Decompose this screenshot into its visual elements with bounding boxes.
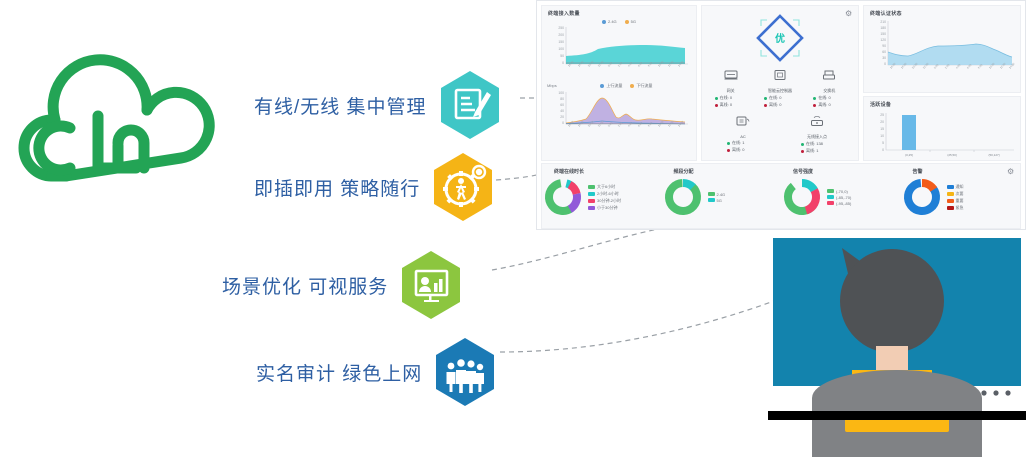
legend-label: 2小时-6小时 [597, 191, 619, 197]
svg-text:20: 20 [880, 120, 884, 124]
legend-label: 大于6小时 [597, 184, 615, 190]
health-score: 优 [702, 8, 858, 68]
traffic-chart: 1008060 40200 16:00 18:00 20:00 22:00 0:… [542, 89, 696, 141]
device-online: 在线: 0 [818, 95, 830, 101]
svg-text:210: 210 [880, 20, 886, 24]
health-diamond-icon: 优 [751, 10, 809, 66]
feature-row-1: 即插即用 策略随行 [254, 152, 494, 222]
donut-legend: 通知 次要 重要 紧急 [947, 184, 964, 211]
document-edit-icon [439, 70, 501, 140]
legend-label: 次要 [956, 191, 964, 197]
bar-cat-1: (25,50] [947, 153, 957, 157]
donut-title: 频段分配 [674, 168, 782, 175]
svg-text:0: 0 [882, 148, 884, 152]
gear-person-icon [432, 152, 494, 222]
svg-text:0: 0 [562, 121, 564, 125]
svg-text:40: 40 [560, 109, 564, 113]
legend-label: (-85,-70) [836, 195, 851, 200]
device-status-row-1: 网关 在线: 0 离线: 0 智能云控制器 在线: 0 离线: 0 [702, 68, 858, 108]
device-offline: 离线: 1 [806, 148, 818, 154]
svg-text:150: 150 [880, 32, 886, 36]
donut-legend: 大于6小时 2小时-6小时 30分钟-2小时 小于30分钟 [588, 184, 621, 211]
svg-text:60: 60 [560, 103, 564, 107]
active-devices-chart: 252015 1050 (0,25] (25,50] (50,127] [864, 108, 1020, 162]
desk-line [768, 411, 1026, 420]
dashboard-card: 终端接入数量 2.4G 5G 250200150 100500 16:00 1 [536, 0, 1026, 230]
svg-text:20: 20 [560, 115, 564, 119]
donut-title: 信号强度 [793, 168, 901, 175]
feature-label-3: 实名审计 绿色上网 [256, 359, 422, 386]
donut-title: 终端在线时长 [554, 168, 662, 175]
donut-band-allocation: 频段分配 2.4G 5G [662, 164, 782, 228]
donut-chart [542, 176, 584, 218]
svg-text:5: 5 [882, 141, 884, 145]
device-access-point: 无线接入点 在线: 138 离线: 1 [793, 114, 841, 154]
legend-label: 2.4G [717, 192, 726, 197]
device-online: 在线: 1 [732, 140, 744, 146]
terminal-access-chart: 250200150 100500 16:00 18:00 20:00 22:00… [542, 24, 696, 78]
device-offline: 离线: 0 [720, 102, 732, 108]
bar-0 [902, 115, 916, 150]
access-point-icon [809, 115, 825, 127]
svg-text:150: 150 [558, 40, 564, 44]
svg-text:250: 250 [558, 26, 564, 30]
svg-text:100: 100 [558, 47, 564, 51]
head-hair [840, 249, 944, 353]
person-at-screen-illustration [768, 238, 1026, 457]
device-cloud-controller: 智能云控制器 在线: 0 离线: 0 [756, 68, 804, 108]
feature-icon-0 [439, 70, 501, 140]
donut-signal-strength: 信号强度 (-70,0) (-85,-70) (-95,-85) [781, 164, 901, 228]
gear-icon[interactable]: ⚙ [845, 10, 853, 18]
donut-online-duration: 终端在线时长 大于6小时 2小时-6小时 30分钟-2小时 [542, 164, 662, 228]
device-name: 网关 [707, 88, 755, 94]
clm-cloud-logo: clm [8, 28, 256, 188]
active-devices-panel: 活跃设备 252015 1050 (0,25] (25,50] (50,127] [863, 96, 1021, 161]
switch-icon [822, 69, 836, 81]
device-ac: AC 在线: 1 离线: 0 [719, 114, 767, 154]
device-gateway: 网关 在线: 0 离线: 0 [707, 68, 755, 108]
device-name: AC [719, 134, 767, 139]
device-online: 在线: 0 [720, 95, 732, 101]
svg-text:15: 15 [880, 127, 884, 131]
feature-row-0: 有线/无线 集中管理 [254, 70, 501, 140]
health-score-label: 优 [775, 32, 785, 45]
legend-label: (-95,-85) [836, 201, 851, 206]
people-group-icon [434, 337, 496, 407]
donut-row: ⚙ 终端在线时长 大于6小时 2小时-6小时 [541, 163, 1021, 229]
legend-label: 5G [717, 198, 722, 203]
feature-label-1: 即插即用 策略随行 [254, 174, 420, 201]
right-panels: 终端认证状态 210180150 1209060 300 16:00 18:00 [863, 5, 1021, 161]
svg-text:80: 80 [560, 97, 564, 101]
svg-text:30: 30 [882, 56, 886, 60]
donut-legend: (-70,0) (-85,-70) (-95,-85) [827, 189, 851, 206]
legend-label: 通知 [956, 184, 964, 190]
device-online: 在线: 138 [806, 141, 823, 147]
neck [876, 346, 908, 370]
bar-cat-0: (0,25] [905, 153, 913, 157]
device-online: 在线: 0 [769, 95, 781, 101]
donut-legend: 2.4G 5G [708, 192, 726, 203]
svg-text:100: 100 [558, 91, 564, 95]
health-panel: ⚙ 优 [701, 5, 859, 161]
donut-alarm: 告警 通知 次要 重要 紧急 [901, 164, 1021, 228]
legend-label: 小于30分钟 [597, 205, 617, 211]
device-name: 智能云控制器 [756, 88, 804, 94]
legend-label: (-70,0) [836, 189, 848, 194]
svg-text:120: 120 [880, 38, 886, 42]
donut-chart [781, 176, 823, 218]
feature-icon-3 [434, 337, 496, 407]
more-dots-icon [981, 390, 1010, 395]
auth-status-chart: 210180150 1209060 300 16:00 18:00 20:00 … [864, 17, 1020, 87]
traffic-unit-label: Mbps [547, 83, 557, 88]
chair-stripe [845, 418, 949, 432]
feature-icon-2 [400, 250, 462, 320]
cloud-controller-icon [773, 69, 787, 81]
svg-text:60: 60 [882, 50, 886, 54]
auth-status-panel: 终端认证状态 210180150 1209060 300 16:00 18:00 [863, 5, 1021, 93]
legend-label: 30分钟-2小时 [597, 198, 621, 204]
feature-row-3: 实名审计 绿色上网 [256, 337, 496, 407]
ac-icon [735, 115, 751, 127]
feature-row-2: 场景优化 可视服务 [222, 250, 462, 320]
svg-text:0: 0 [562, 61, 564, 65]
terminal-access-panel: 终端接入数量 2.4G 5G 250200150 100500 16:00 1 [541, 5, 697, 161]
svg-text:90: 90 [882, 44, 886, 48]
gateway-icon [724, 69, 738, 81]
feature-label-0: 有线/无线 集中管理 [254, 92, 427, 119]
feature-icon-1 [432, 152, 494, 222]
device-status-row-2: AC 在线: 1 离线: 0 无线接入点 在线: 138 离线: 1 [702, 114, 858, 154]
bar-cat-2: (50,127] [988, 153, 999, 157]
svg-text:25: 25 [880, 113, 884, 117]
donut-chart [662, 176, 704, 218]
presentation-chart-icon [400, 250, 462, 320]
active-devices-title: 活跃设备 [870, 101, 1020, 108]
device-name: 交换机 [805, 88, 853, 94]
donut-title: 告警 [913, 168, 1021, 175]
legend-label: 重要 [956, 198, 964, 204]
svg-text:0: 0 [884, 62, 886, 66]
terminal-access-title: 终端接入数量 [548, 10, 696, 17]
device-offline: 离线: 0 [818, 102, 830, 108]
promo-diagram: clm 有线/无线 集中管理 即插即用 策略随行 [0, 0, 1026, 457]
device-switch: 交换机 在线: 0 离线: 0 [805, 68, 853, 108]
device-name: 无线接入点 [793, 134, 841, 140]
device-offline: 离线: 0 [769, 102, 781, 108]
gear-icon[interactable]: ⚙ [1007, 168, 1015, 176]
svg-text:180: 180 [880, 26, 886, 30]
device-offline: 离线: 0 [732, 147, 744, 153]
dashboard-top-row: 终端接入数量 2.4G 5G 250200150 100500 16:00 1 [537, 1, 1025, 161]
svg-text:50: 50 [560, 54, 564, 58]
legend-label: 紧急 [956, 205, 964, 211]
svg-text:10: 10 [880, 134, 884, 138]
donut-chart [901, 176, 943, 218]
svg-text:200: 200 [558, 33, 564, 37]
feature-label-2: 场景优化 可视服务 [222, 272, 388, 299]
auth-status-title: 终端认证状态 [870, 10, 1020, 17]
